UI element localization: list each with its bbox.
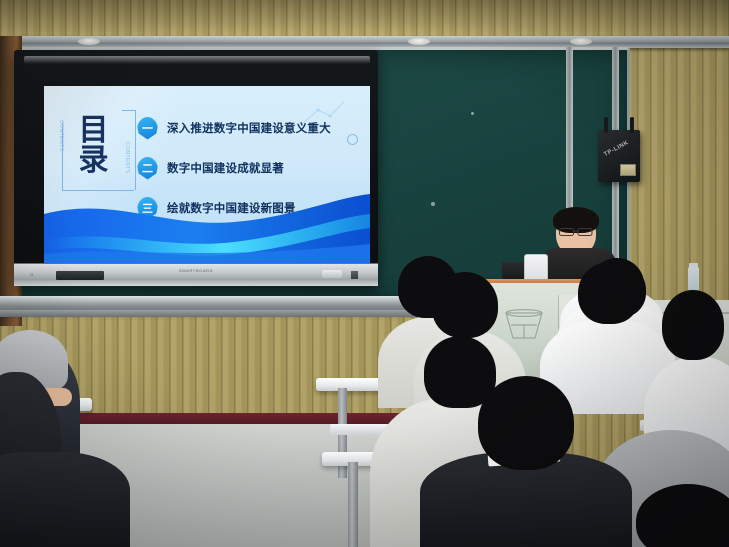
slide-wave-graphic <box>44 188 370 264</box>
router-brand-label: TP-LINK <box>603 140 630 158</box>
teacher-glasses-icon <box>559 228 593 236</box>
router-antenna-right <box>630 117 634 133</box>
display-power-button[interactable] <box>322 270 342 278</box>
slide-title-char-1: 目 <box>66 116 122 146</box>
display-ports[interactable] <box>56 271 104 280</box>
router-antenna-left <box>604 117 608 133</box>
item-number-1: 一 <box>137 117 158 140</box>
display-indicator-led <box>351 271 358 279</box>
slide-title-subtext-2: CONTENTS <box>124 142 130 174</box>
ceiling-shadow <box>0 0 729 34</box>
item-text-2: 数字中国建设成就显著 <box>167 160 284 176</box>
item-number-2: 二 <box>137 157 158 180</box>
slide-watermark-icon <box>347 134 358 145</box>
classroom-scene: 目 录 CONTENTS CONTENTS 一 深入推进数字中国建设意义重大 <box>0 0 729 547</box>
student-head <box>578 262 640 324</box>
trash-bin-icon <box>502 307 546 341</box>
item-number-badge-1: 一 <box>137 117 158 140</box>
student-body <box>0 452 130 547</box>
wifi-router: TP-LINK <box>598 130 640 182</box>
router-label-sticker <box>620 164 636 176</box>
display-bezel-logo: i3 <box>30 272 33 277</box>
display-top-highlight <box>24 56 370 64</box>
student-head <box>478 376 574 470</box>
slide-title-block: 目 录 <box>66 116 122 176</box>
slide-title-char-2: 录 <box>66 146 122 176</box>
display-bezel: i3 SMARTBOARD <box>14 263 378 286</box>
list-item: 一 深入推进数字中国建设意义重大 <box>137 114 352 142</box>
student-head <box>432 272 498 338</box>
item-number-badge-2: 二 <box>137 157 158 180</box>
slide-screen[interactable]: 目 录 CONTENTS CONTENTS 一 深入推进数字中国建设意义重大 <box>44 86 370 264</box>
title-bracket-right <box>133 110 136 190</box>
slide-title-subtext: CONTENTS <box>58 120 64 152</box>
desk-leg <box>348 462 358 547</box>
rail-light <box>570 38 592 45</box>
item-text-1: 深入推进数字中国建设意义重大 <box>167 120 331 136</box>
interactive-display[interactable]: 目 录 CONTENTS CONTENTS 一 深入推进数字中国建设意义重大 <box>14 50 378 286</box>
student-head <box>662 290 724 360</box>
rail-light <box>78 38 100 45</box>
water-bottle <box>688 267 699 291</box>
list-item: 二 数字中国建设成就显著 <box>137 154 352 182</box>
rail-light <box>408 38 430 45</box>
display-brand-label: SMARTBOARD <box>179 268 213 273</box>
